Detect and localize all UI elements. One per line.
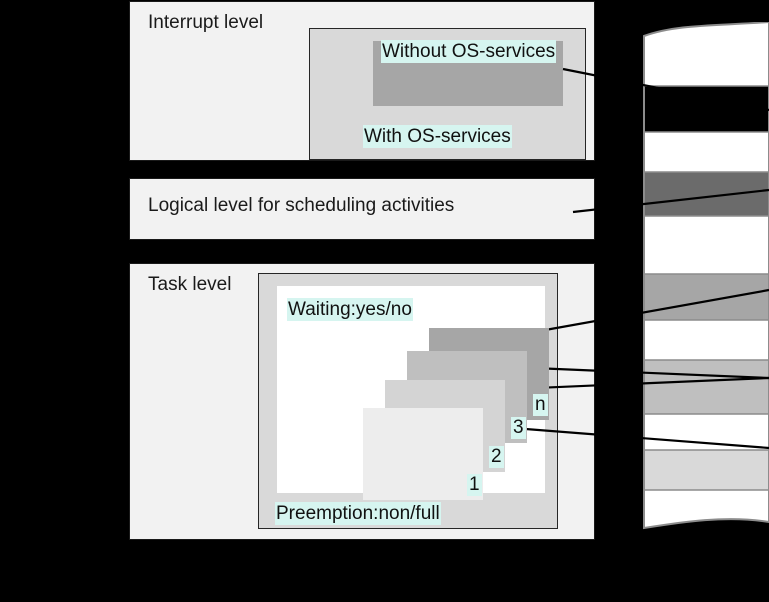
- without-os-services-label: Without OS-services: [381, 40, 556, 63]
- interrupt-level-panel: Interrupt level Without OS-services With…: [129, 1, 595, 161]
- strip-band-5: [643, 274, 769, 320]
- task-box-label-2: 2: [489, 446, 504, 468]
- with-os-services-box: Without OS-services With OS-services: [309, 28, 586, 160]
- diagram-canvas: Interrupt level Without OS-services With…: [0, 0, 769, 602]
- preemption-label: Preemption:non/full: [275, 502, 441, 525]
- strip-band-0: [643, 30, 769, 86]
- strip-band-3: [643, 172, 769, 216]
- without-os-services-box: Without OS-services: [373, 41, 563, 106]
- task-level-panel: Task level n321 Waiting:yes/no Preemptio…: [129, 263, 595, 540]
- strip-band-4: [643, 216, 769, 274]
- task-box-label-1: 1: [467, 474, 482, 496]
- task-box-1: [363, 408, 483, 500]
- strip-band-8: [643, 414, 769, 450]
- strip-svg: [632, 22, 769, 532]
- strip-band-9: [643, 450, 769, 490]
- memory-layout-strip: [632, 22, 769, 532]
- waiting-label: Waiting:yes/no: [287, 298, 413, 321]
- strip-band-2: [643, 132, 769, 172]
- task-level-outer-box: n321 Waiting:yes/no Preemption:non/full: [258, 273, 558, 529]
- strip-band-6: [643, 320, 769, 360]
- task-level-title: Task level: [148, 274, 231, 296]
- logical-level-panel: Logical level for scheduling activities: [129, 178, 595, 240]
- with-os-services-label: With OS-services: [363, 125, 512, 148]
- logical-level-title: Logical level for scheduling activities: [148, 195, 454, 217]
- interrupt-level-title: Interrupt level: [148, 12, 263, 34]
- task-box-label-3: 3: [511, 417, 526, 439]
- strip-band-1: [643, 86, 769, 132]
- strip-band-7: [643, 360, 769, 414]
- task-box-label-n: n: [533, 394, 548, 416]
